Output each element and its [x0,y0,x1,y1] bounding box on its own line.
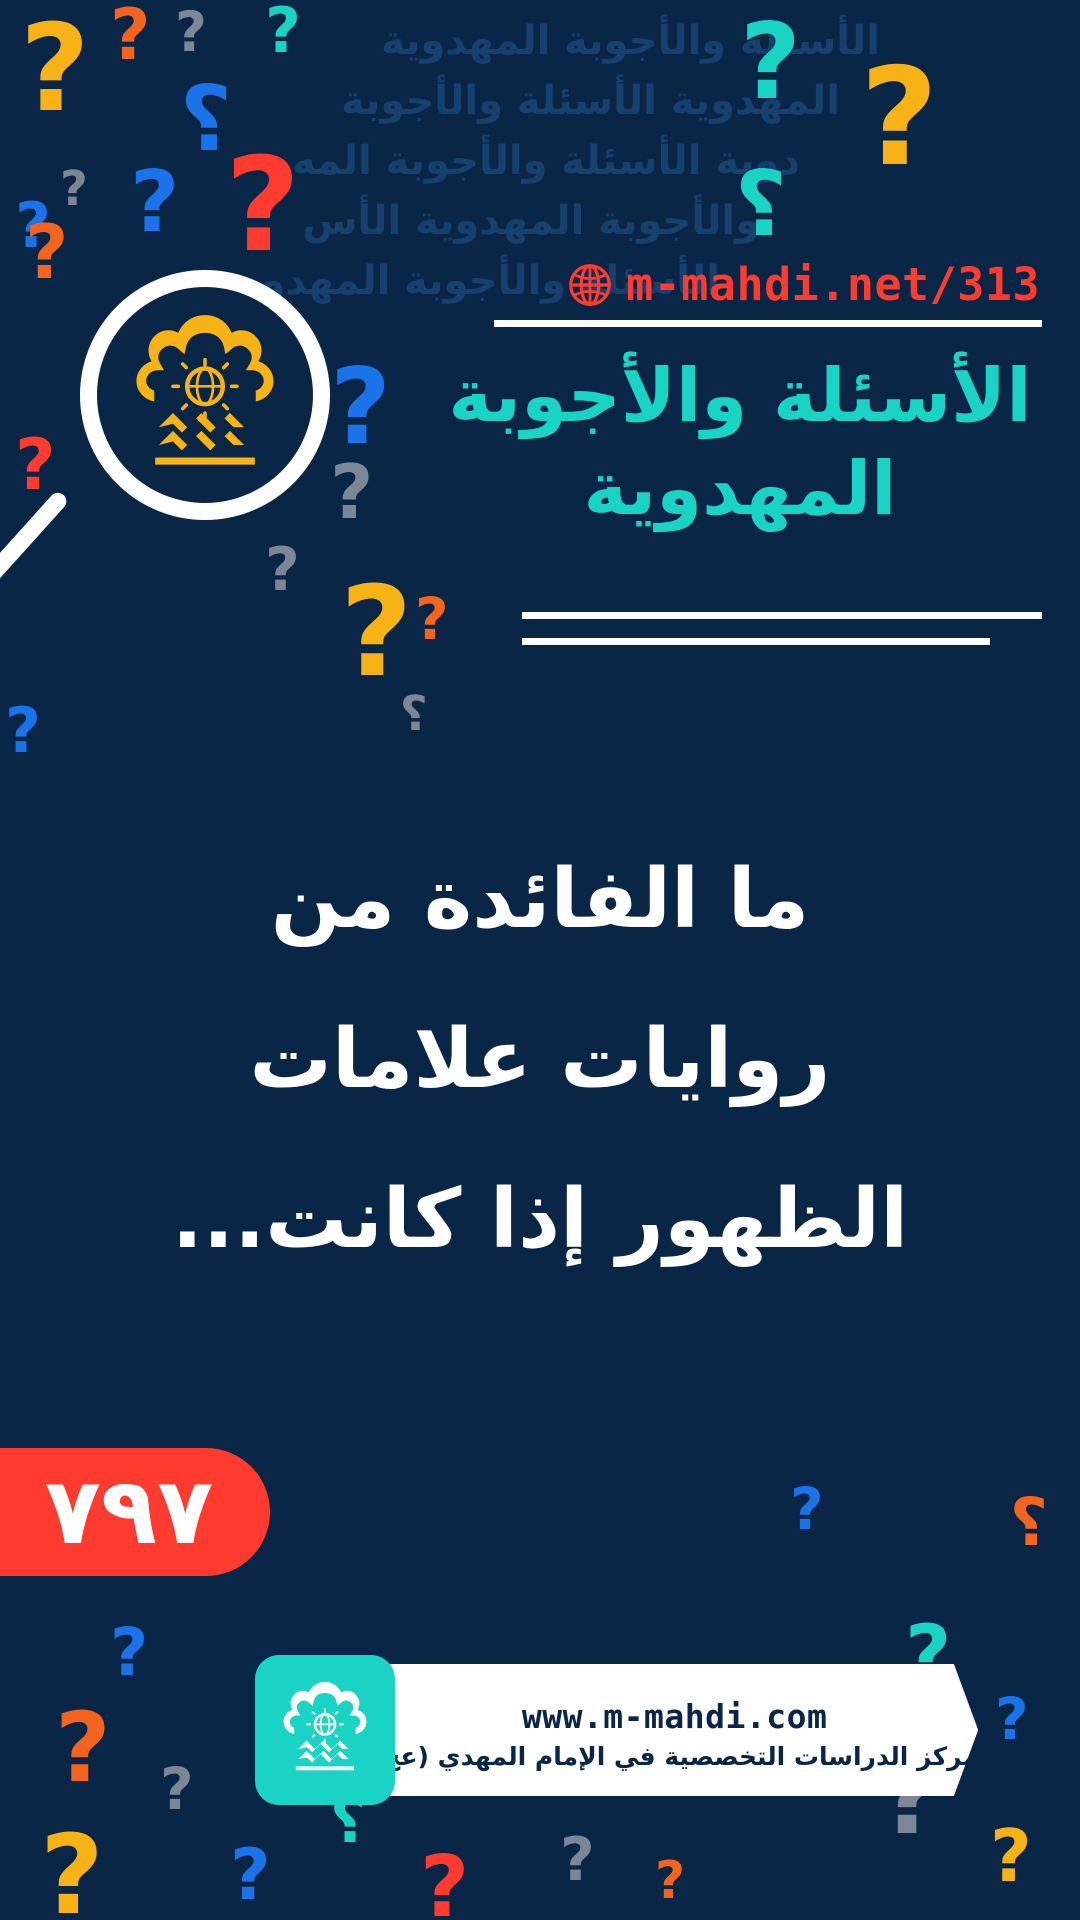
question-mark-icon: ? [180,75,232,165]
question-mark-icon: ? [130,160,179,245]
question-mark-icon: ? [110,1620,148,1686]
footer-logo [255,1655,395,1805]
poster-canvas: الأسئلة والأجوبة المهدوية المهدوية الأسئ… [0,0,1080,1920]
watermark-line: والأجوبة المهدوية الأس [302,198,760,244]
question-mark-icon: ? [15,195,51,257]
question-text: ما الفائدة من روايات علامات الظهور إذا ك… [0,820,1080,1300]
question-mark-icon: ? [15,430,56,500]
url-underline-divider [494,320,1042,327]
question-mark-icon: ? [110,0,151,70]
question-line: ما الفائدة من [60,820,1020,980]
question-mark-icon: ? [740,10,801,115]
magnifier-ring [80,270,330,520]
footer-bar[interactable]: www.m-mahdi.com مركز الدراسات التخصصية ف… [255,1655,865,1815]
question-mark-icon: ? [560,1830,595,1890]
question-mark-icon: ? [990,1820,1032,1892]
question-mark-icon: ? [655,1855,685,1907]
site-url-row[interactable]: m-mahdi.net/313 [568,258,1040,311]
watermark-line: المهدوية الأسئلة والأجوبة [341,78,840,124]
question-mark-icon: ? [20,10,90,130]
question-mark-icon: ? [160,1760,194,1818]
question-mark-icon: ? [175,5,207,60]
footer-url-text: www.m-mahdi.com [522,1697,828,1736]
question-mark-icon: ? [55,1700,111,1796]
question-mark-icon: ? [330,455,374,530]
question-mark-icon: ? [60,165,88,213]
brand-title: الأسئلة والأجوبة المهدوية [440,350,1040,535]
question-mark-icon: ? [230,1840,271,1910]
question-mark-icon: ? [25,215,69,290]
title-divider-top [522,612,1042,619]
question-mark-icon: ? [790,1480,824,1538]
magnifier-icon [35,270,365,690]
mahdi-emblem-icon [113,308,297,486]
footer-center-name: مركز الدراسات التخصصية في الإمام المهدي … [371,1742,978,1771]
question-mark-icon: ? [5,700,41,762]
question-line: الظهور إذا كانت... [60,1140,1020,1300]
question-line: روايات علامات [60,980,1020,1140]
question-mark-icon: ? [40,1820,104,1920]
watermark-line: دوية الأسئلة والأجوبة المه [292,138,800,184]
question-mark-icon: ? [860,50,938,185]
question-mark-icon: ? [340,570,413,695]
question-mark-icon: ? [225,140,300,270]
title-divider-bottom [522,638,990,645]
question-mark-icon: ? [265,0,301,62]
question-mark-icon: ? [265,540,300,600]
question-mark-icon: ? [995,1690,1029,1748]
question-mark-icon: ? [735,160,787,250]
globe-icon [568,263,612,307]
magnifier-handle [0,489,70,634]
question-mark-icon: ? [330,355,391,460]
question-number-badge: ٧٩٧ [0,1448,270,1576]
brand-title-line2: المهدوية [440,443,1040,536]
question-mark-icon: ? [415,590,449,648]
footer-info-panel: www.m-mahdi.com مركز الدراسات التخصصية ف… [371,1655,978,1805]
site-url-text: m-mahdi.net/313 [626,258,1040,311]
question-number: ٧٩٧ [45,1466,213,1558]
mahdi-emblem-icon [269,1670,381,1790]
watermark-line: الأسئلة والأجوبة المهدوية [381,18,880,64]
brand-title-line1: الأسئلة والأجوبة [448,353,1031,439]
question-mark-icon: ? [1010,1490,1048,1556]
question-mark-icon: ? [400,690,428,738]
question-mark-icon: ? [420,1845,469,1920]
